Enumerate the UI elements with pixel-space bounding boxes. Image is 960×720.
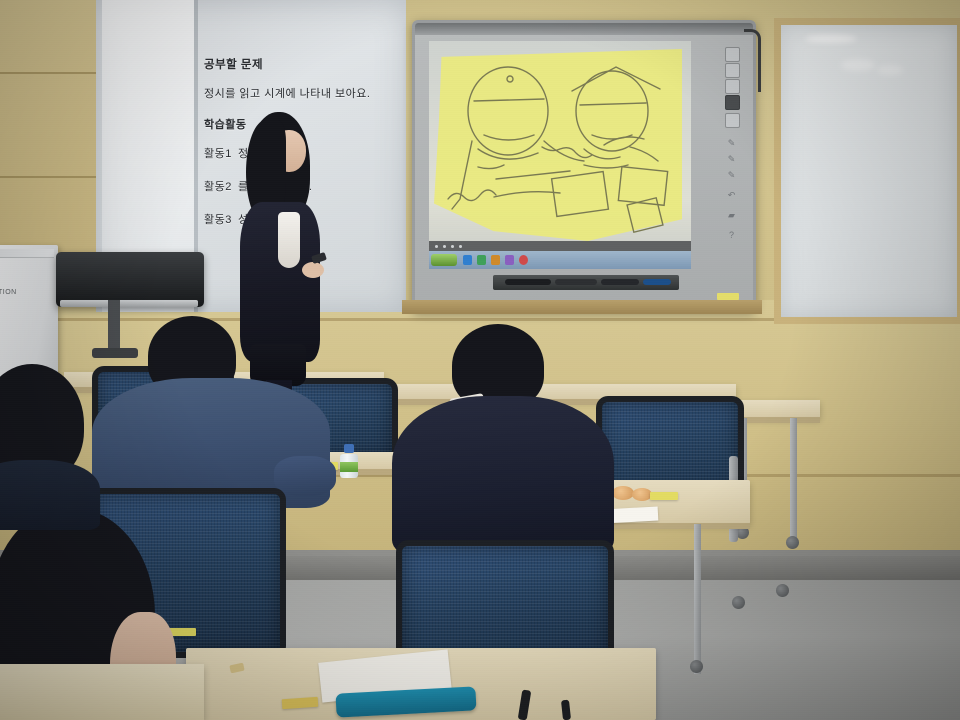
pen-black-icon[interactable]: ✎ [725, 137, 738, 149]
desk-caster-b [786, 536, 799, 549]
help-icon[interactable]: ? [725, 229, 738, 241]
page-down-button[interactable] [725, 63, 740, 78]
undo-icon[interactable]: ↶ [725, 189, 738, 201]
desk-row2-leg [694, 524, 701, 674]
start-button[interactable] [431, 254, 457, 266]
interactive-whiteboard[interactable]: ✎ ✎ ✎ ↶ ▰ ? [412, 20, 756, 311]
av-cabinet: TION [0, 245, 58, 380]
app-menu-bar[interactable] [429, 241, 691, 251]
pen-red-icon[interactable]: ✎ [725, 153, 738, 165]
attendee-suit [392, 324, 622, 554]
cabinet-lid [0, 249, 54, 258]
taskbar-icon-3[interactable] [491, 255, 500, 265]
attendee-far-left-body [0, 460, 100, 530]
snack-roll-2 [632, 488, 652, 501]
attendee-far-left [0, 364, 90, 514]
cabinet-label: TION [0, 289, 17, 296]
attendee-blue-arm [274, 456, 336, 496]
slide-problem-line: 정시를 읽고 시계에 나타내 보아요. [204, 85, 404, 101]
chair-row2-suit[interactable] [396, 540, 602, 658]
taskbar-icon-1[interactable] [463, 255, 472, 265]
select-tool-button[interactable] [725, 95, 740, 110]
new-page-button[interactable] [725, 79, 740, 94]
whiteboard-top-frame [415, 23, 753, 35]
presenter-shirt [278, 212, 300, 268]
beverage-bottle [340, 444, 358, 478]
desk-leg-a [790, 418, 797, 538]
desk-row2-caster [690, 660, 703, 673]
whiteboard-brand-badge [717, 293, 739, 300]
chair-caster-2 [776, 584, 789, 597]
desk-foreground-left [0, 664, 204, 720]
chair-caster-1 [732, 596, 745, 609]
pen-blue-icon[interactable]: ✎ [725, 169, 738, 181]
taskbar-icon-4[interactable] [505, 255, 514, 265]
blank-whiteboard[interactable] [774, 18, 960, 324]
eraser-icon[interactable]: ▰ [725, 209, 738, 221]
presenter-hand [302, 262, 324, 278]
monitor-base-bar [60, 300, 198, 307]
attendee-suit-jacket [392, 396, 614, 556]
marker-pen-tray[interactable] [493, 275, 679, 290]
page-up-button[interactable] [725, 47, 740, 62]
whiteboard-ledge [402, 300, 762, 314]
whiteboard-screen[interactable] [429, 41, 691, 269]
keyboard-button[interactable] [725, 113, 740, 128]
desk-name-tag-2 [650, 492, 678, 500]
whiteboard-side-toolbar[interactable]: ✎ ✎ ✎ ↶ ▰ ? [721, 45, 747, 267]
slide-title: 공부할 문제 [204, 56, 404, 72]
taskbar-icon-5[interactable] [519, 255, 528, 265]
av-monitor [56, 252, 204, 307]
classroom-photo: 공부할 문제 정시를 읽고 시계에 나타내 보아요. 학습활동 활동1정 보아요… [0, 0, 960, 720]
attendee-blue [88, 316, 338, 516]
taskbar-icon-2[interactable] [477, 255, 486, 265]
child-drawing [434, 49, 682, 247]
os-taskbar[interactable] [429, 251, 691, 269]
